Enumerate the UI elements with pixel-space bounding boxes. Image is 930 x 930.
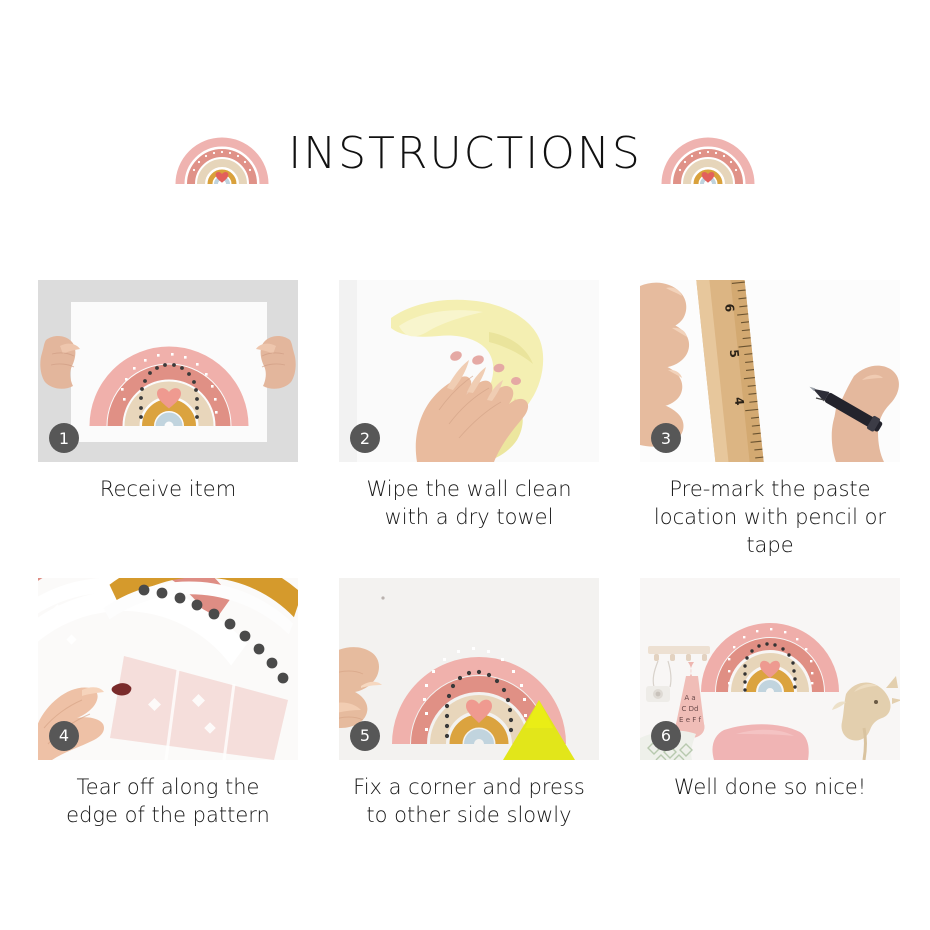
bag-letter-line: A a bbox=[684, 694, 695, 702]
caption-line: Tear off along the bbox=[38, 774, 298, 802]
step-figure-hand-wiping-wall-with-towel: 2 bbox=[339, 280, 599, 462]
page-title: INSTRUCTIONS bbox=[288, 132, 642, 176]
step-figure-hand-pressing-decal-with-squeegee: 5 bbox=[339, 578, 599, 760]
ruler-tick-label: 6 bbox=[722, 303, 737, 313]
rainbow-icon bbox=[660, 118, 756, 190]
caption-line: Pre-mark the paste bbox=[640, 476, 900, 504]
step-card: A a C Dd E e F f bbox=[640, 578, 900, 830]
ruler-tick-label: 5 bbox=[727, 349, 742, 359]
step-number-badge: 2 bbox=[350, 423, 380, 453]
rainbow-icon bbox=[174, 118, 270, 190]
step-number-badge: 1 bbox=[49, 423, 79, 453]
step-figure-finished-nursery-wall: A a C Dd E e F f bbox=[640, 578, 900, 760]
caption-line: edge of the pattern bbox=[38, 802, 298, 830]
step-number-badge: 3 bbox=[651, 423, 681, 453]
header: INSTRUCTIONS bbox=[0, 108, 930, 200]
step-card: 2 Wipe the wall clean with a dry towel bbox=[339, 280, 599, 560]
caption-line: Fix a corner and press bbox=[339, 774, 599, 802]
caption-line: Well done so nice! bbox=[640, 774, 900, 802]
caption-line: Wipe the wall clean bbox=[339, 476, 599, 504]
step-figure-ruler-and-pencil-marking-wall: 6 5 4 bbox=[640, 280, 900, 462]
step-caption: Fix a corner and press to other side slo… bbox=[339, 774, 599, 830]
bag-letter-line: C Dd bbox=[682, 705, 699, 713]
step-number-badge: 6 bbox=[651, 721, 681, 751]
step-figure-hands-holding-rainbow-print: 1 bbox=[38, 280, 298, 462]
step-caption: Well done so nice! bbox=[640, 774, 900, 802]
bag-letter-line: E e F f bbox=[679, 716, 701, 724]
caption-line: location with pencil or tape bbox=[640, 504, 900, 560]
step-number-badge: 5 bbox=[350, 721, 380, 751]
step-caption: Pre-mark the paste location with pencil … bbox=[640, 476, 900, 560]
steps-grid: 1 Receive item bbox=[38, 280, 900, 830]
ruler-tick-label: 4 bbox=[732, 396, 747, 406]
caption-line: with a dry towel bbox=[339, 504, 599, 532]
step-card: 4 Tear off along the edge of the pattern bbox=[38, 578, 298, 830]
step-figure-hand-peeling-transfer-film: 4 bbox=[38, 578, 298, 760]
step-caption: Wipe the wall clean with a dry towel bbox=[339, 476, 599, 532]
step-card: 5 Fix a corner and press to other side s… bbox=[339, 578, 599, 830]
caption-line: Receive item bbox=[38, 476, 298, 504]
step-caption: Receive item bbox=[38, 476, 298, 504]
caption-line: to other side slowly bbox=[339, 802, 599, 830]
step-number-badge: 4 bbox=[49, 721, 79, 751]
step-caption: Tear off along the edge of the pattern bbox=[38, 774, 298, 830]
step-card: 1 Receive item bbox=[38, 280, 298, 560]
instructions-infographic: INSTRUCTIONS bbox=[0, 0, 930, 930]
step-card: 6 5 4 bbox=[640, 280, 900, 560]
